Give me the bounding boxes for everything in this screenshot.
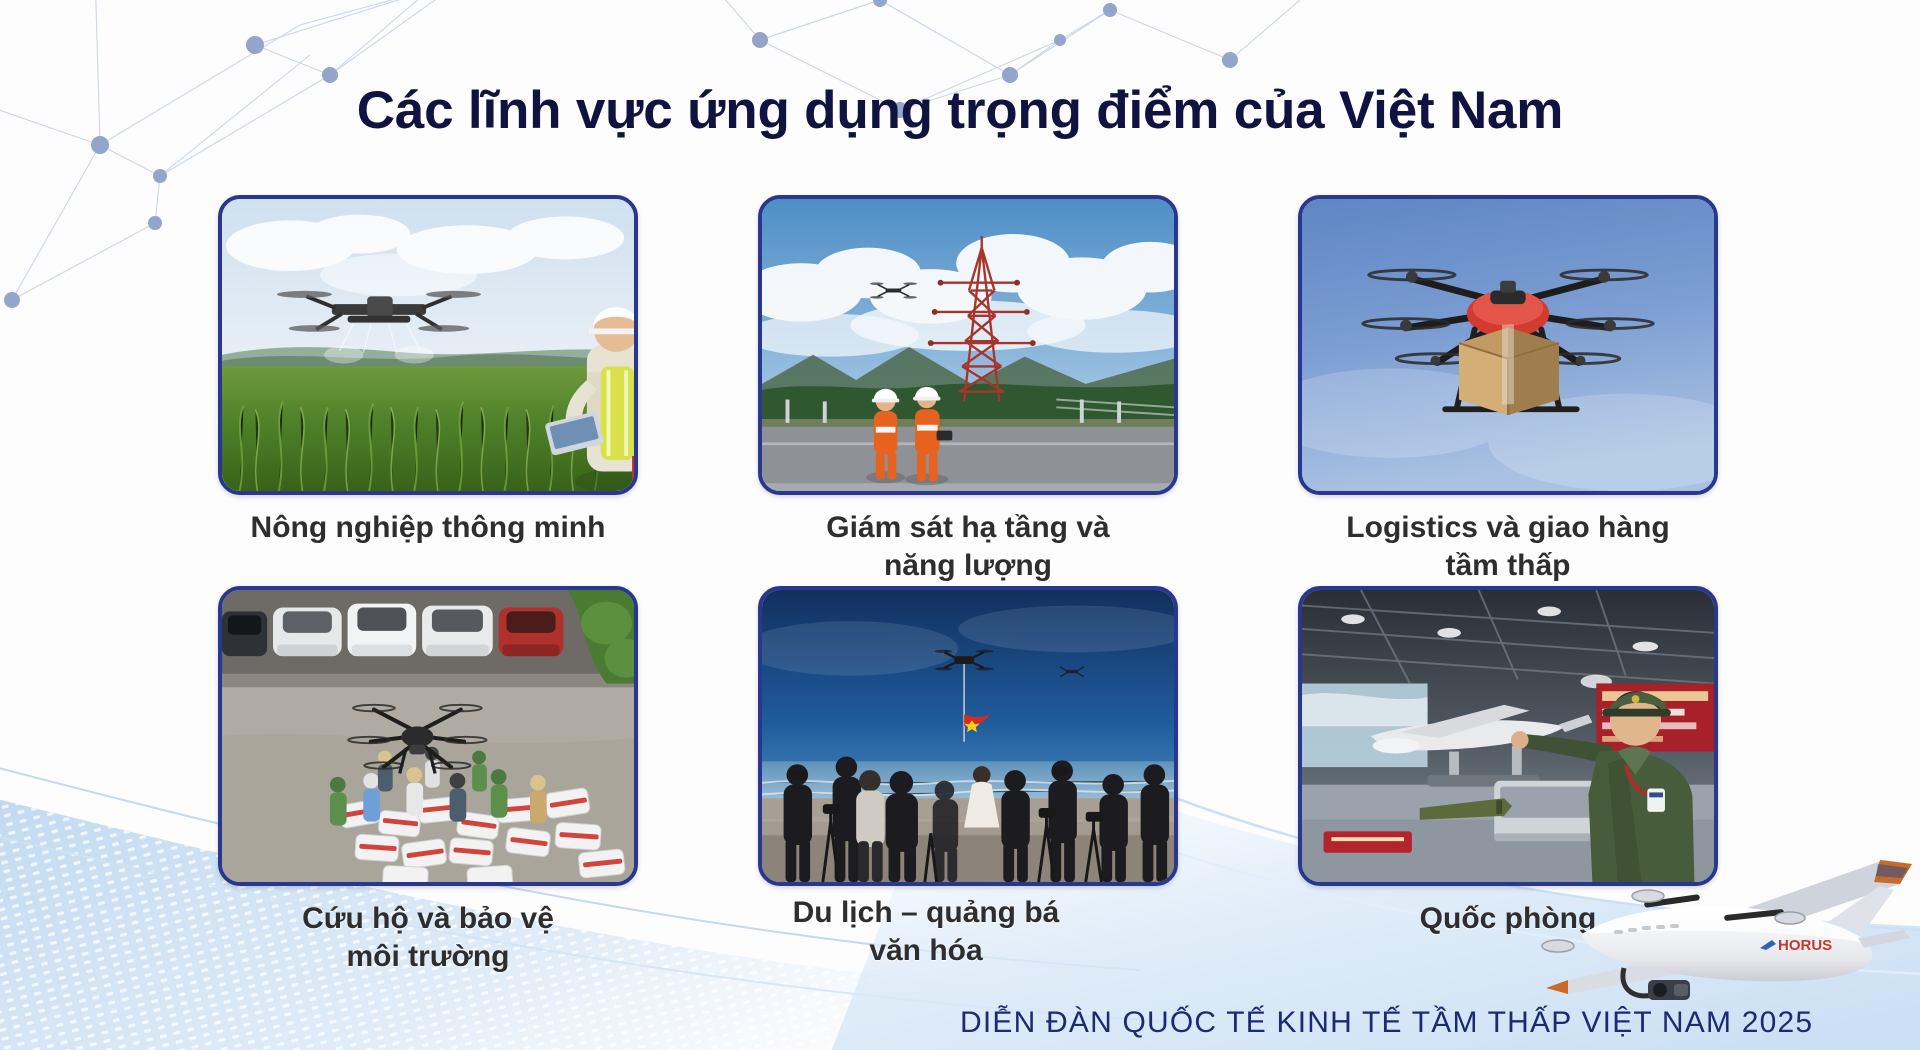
horus-uav-decoration-icon: HORUS <box>1528 838 1920 1018</box>
slide-root: Các lĩnh vực ứng dụng trọng điểm của Việ… <box>0 0 1920 1050</box>
rescue-environment-protection-photo[interactable] <box>218 586 638 886</box>
uav-brand-label: HORUS <box>1778 937 1832 954</box>
card-caption: Nông nghiệp thông minh <box>212 509 644 547</box>
infrastructure-energy-inspection-photo[interactable] <box>758 195 1178 495</box>
card-caption: Logistics và giao hàng tầm thấp <box>1292 509 1724 586</box>
smart-agriculture-drone-photo[interactable] <box>218 195 638 495</box>
card-caption: Giám sát hạ tầng và năng lượng <box>752 509 1184 586</box>
card-caption: Cứu hộ và bảo vệ môi trường <box>212 900 644 977</box>
logistics-delivery-drone-photo[interactable] <box>1298 195 1718 495</box>
tourism-culture-promotion-photo[interactable] <box>758 586 1178 886</box>
card-caption: Du lịch – quảng bá văn hóa <box>710 894 1142 971</box>
